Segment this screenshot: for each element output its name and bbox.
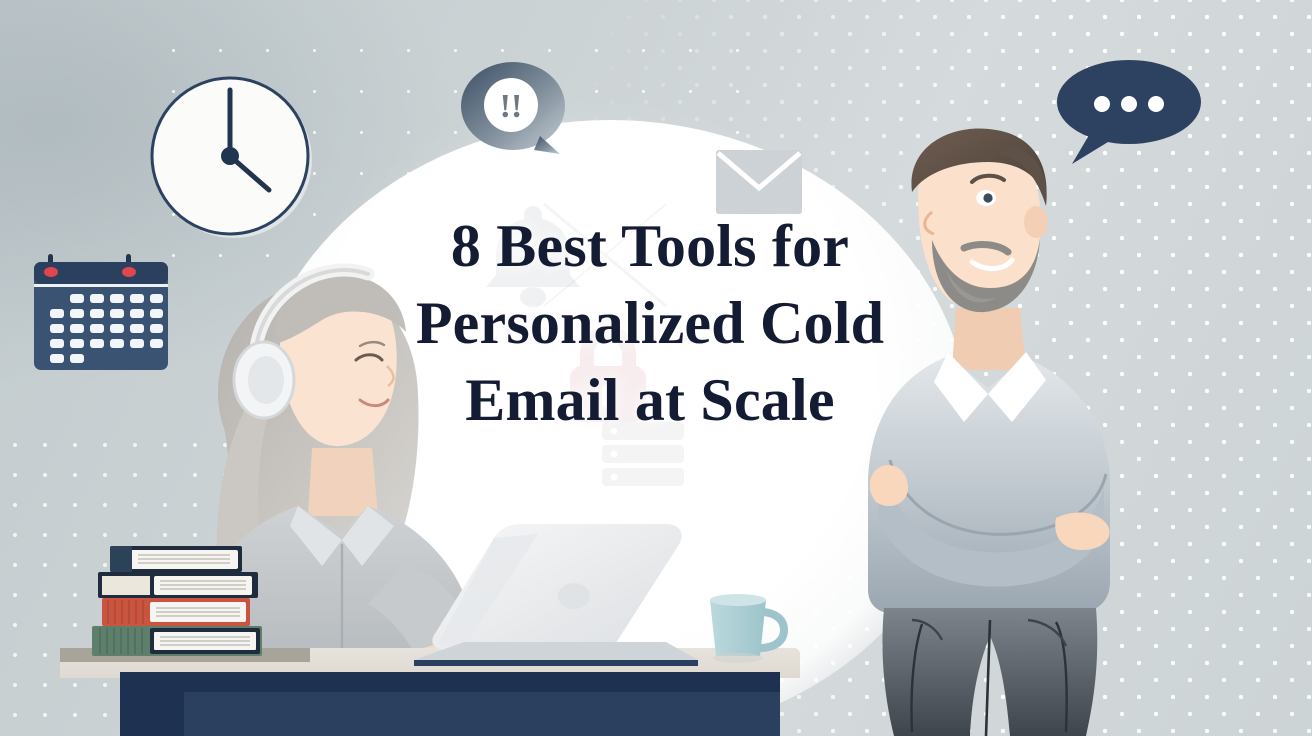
page-title-line-3: Email at Scale — [330, 362, 970, 439]
alert-bubble-glyph: !! — [500, 88, 523, 125]
hero-banner: !! — [0, 0, 1312, 736]
desk-front-panel-inner — [184, 692, 780, 736]
coffee-mug — [700, 590, 790, 664]
page-title-line-2: Personalized Cold — [330, 285, 970, 362]
envelope-icon — [716, 150, 802, 214]
clock-icon — [142, 66, 322, 246]
book-stack — [88, 542, 298, 664]
page-title: 8 Best Tools for Personalized Cold Email… — [330, 208, 970, 438]
calendar-icon — [28, 250, 178, 378]
laptop[interactable] — [398, 508, 708, 668]
page-title-line-1: 8 Best Tools for — [330, 208, 970, 285]
alert-speech-bubble-icon: !! — [456, 58, 576, 166]
